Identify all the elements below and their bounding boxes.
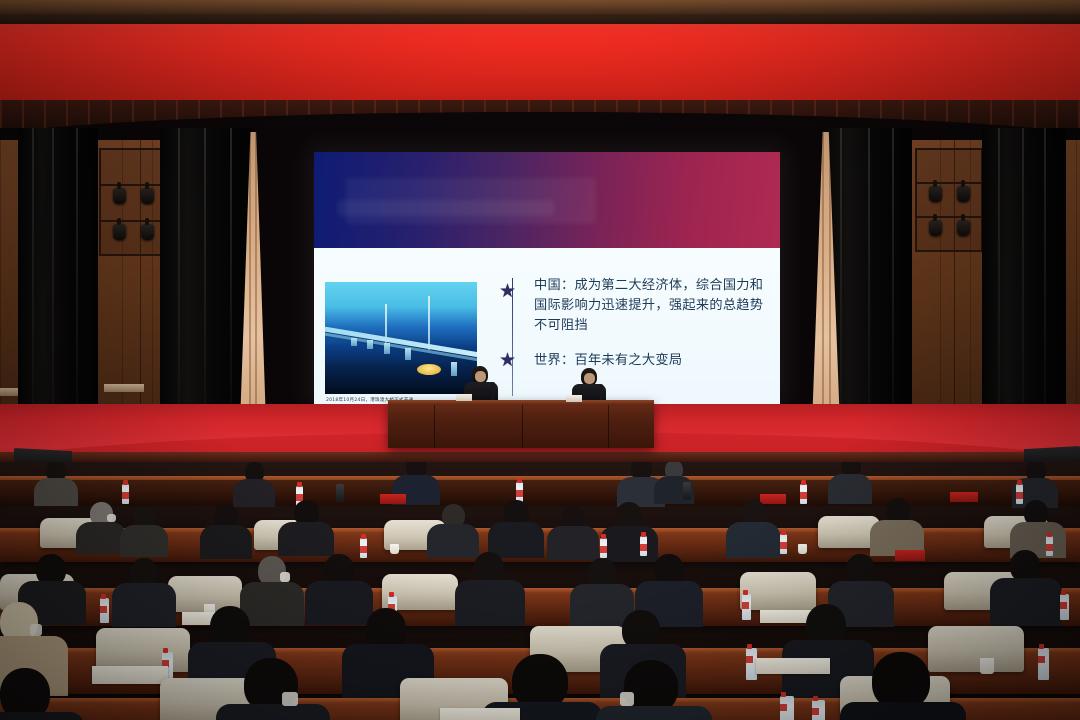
ceiling-sheen: [0, 0, 1080, 14]
projection-screen: 2018年10月24日，港珠澳大桥正式开通 ★ ★ 中国：成为第二大经济体，综合…: [314, 152, 780, 404]
face-mask: [620, 692, 634, 706]
stage-light-icon: [113, 188, 126, 204]
water-bottle: [1060, 594, 1069, 620]
water-bottle: [516, 482, 523, 502]
desk-paper: [440, 708, 520, 720]
water-bottle: [360, 538, 367, 558]
paper-cup: [798, 544, 807, 554]
desk-nameplate: [895, 550, 925, 561]
microphone-left: [492, 384, 494, 400]
wall-vent-left: [104, 384, 144, 392]
water-bottle: [742, 594, 751, 620]
slide-body: 2018年10月24日，港珠澳大桥正式开通 ★ ★ 中国：成为第二大经济体，综合…: [314, 248, 780, 404]
face-mask: [280, 572, 290, 582]
head-table-surface: [388, 400, 654, 405]
slide-header-band: [314, 152, 780, 248]
water-bottle: [100, 598, 109, 623]
desk-paper: [756, 658, 830, 674]
speaker-face: [584, 373, 595, 384]
stage-light-icon: [957, 186, 970, 202]
speaker-face: [475, 371, 486, 382]
nameplate-right: [566, 395, 582, 402]
desk-paper: [92, 666, 168, 684]
presentation-slide: 2018年10月24日，港珠澳大桥正式开通 ★ ★ 中国：成为第二大经济体，综合…: [314, 152, 780, 404]
face-mask: [30, 624, 42, 636]
audience-area: [0, 462, 1080, 720]
desk-nameplate: [950, 492, 978, 502]
water-bottle: [812, 700, 825, 720]
light-truss-left: [99, 148, 167, 256]
water-bottle: [600, 538, 607, 558]
water-bottle: [800, 484, 807, 504]
water-bottle: [1038, 648, 1049, 680]
water-bottle: [1046, 536, 1053, 556]
thermos: [336, 484, 344, 502]
microphone-head-right: [599, 384, 603, 388]
desk-nameplate: [380, 494, 406, 504]
desk-nameplate: [760, 494, 786, 504]
slide-header-subtitle-block: [338, 200, 554, 216]
star-icon: ★: [499, 282, 516, 301]
thermos: [683, 482, 691, 500]
stage-light-icon: [929, 186, 942, 202]
stage-light-icon: [929, 220, 942, 236]
face-mask: [282, 692, 298, 706]
water-bottle: [122, 484, 129, 504]
audience-chair: [740, 572, 816, 610]
paper-cup: [980, 658, 994, 674]
audience-chair: [928, 626, 1024, 672]
stage-light-icon: [957, 220, 970, 236]
conference-hall-photo: 2018年10月24日，港珠澳大桥正式开通 ★ ★ 中国：成为第二大经济体，综合…: [0, 0, 1080, 720]
stage-light-icon: [141, 188, 154, 204]
bridge-photo: [325, 282, 477, 394]
slide-bullet-world: 世界：百年未有之大变局: [534, 351, 770, 371]
microphone-right: [600, 386, 602, 400]
slide-bullet-china: 中国：成为第二大经济体，综合国力和国际影响力迅速提升，强起来的总趋势不可阻挡: [534, 276, 770, 336]
nameplate-left: [456, 394, 472, 401]
paper-cup: [390, 544, 399, 554]
stage-light-icon: [113, 224, 126, 240]
microphone-head-left: [491, 382, 495, 386]
head-table: [388, 400, 654, 448]
water-bottle: [1016, 484, 1023, 504]
water-bottle: [780, 534, 787, 554]
bridge-foundation: [417, 364, 441, 375]
light-truss-right: [915, 148, 983, 252]
stage-light-icon: [141, 224, 154, 240]
water-bottle: [640, 536, 647, 556]
audience-desk-row1: [0, 476, 1080, 506]
water-bottle: [780, 696, 794, 720]
face-mask: [107, 514, 116, 522]
star-icon: ★: [499, 351, 516, 370]
stage-lip: [0, 452, 1080, 462]
